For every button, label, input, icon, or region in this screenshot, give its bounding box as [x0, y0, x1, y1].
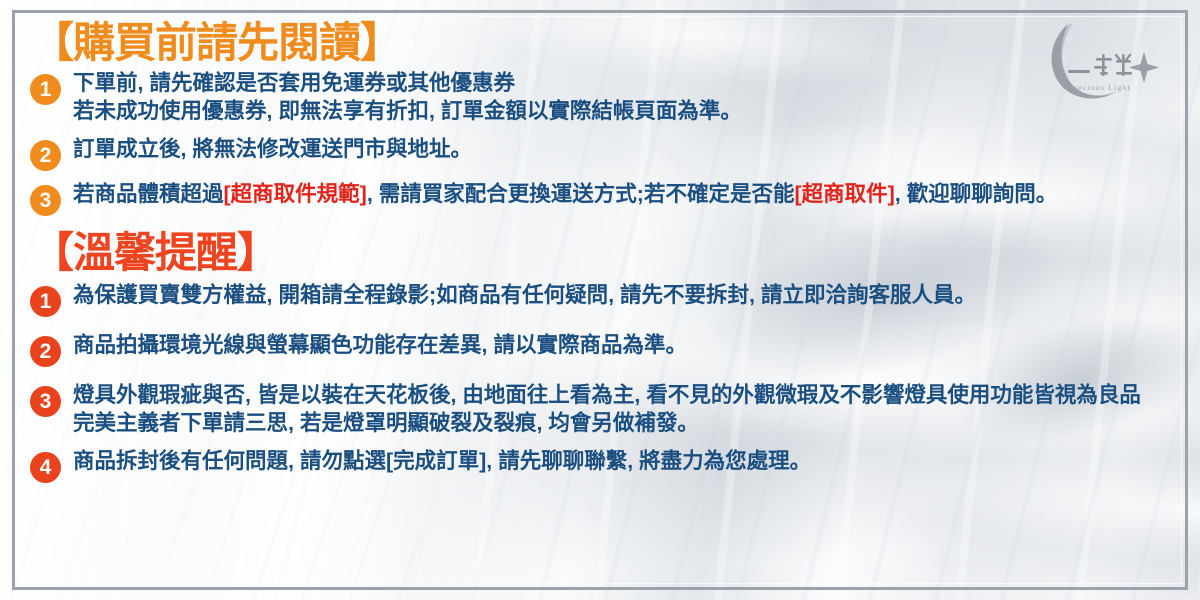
item-text-part: , 歡迎聊聊詢問。	[895, 182, 1057, 206]
item-number-badge: 1	[30, 286, 61, 317]
highlight-text: [超商取件規範]	[224, 182, 367, 206]
poster-root: Precious Light 【購買前請先閱讀】 1 下單前, 請先確認是否套用…	[0, 0, 1200, 600]
list-item: 4 商品拆封後有任何問題, 請勿點選[完成訂單], 請先聊聊聯繫, 將盡力為您處…	[26, 448, 1170, 483]
list-item: 1 下單前, 請先確認是否套用免運券或其他優惠券 若未成功使用優惠券, 即無法享…	[26, 70, 1170, 126]
item-line: 商品拆封後有任何問題, 請勿點選[完成訂單], 請先聊聊聯繫, 將盡力為您處理。	[73, 448, 811, 476]
item-text: 商品拍攝環境光線與螢幕顯色功能存在差異, 請以實際商品為準。	[73, 332, 687, 360]
list-item: 2 訂單成立後, 將無法修改運送門市與地址。	[26, 136, 1170, 171]
item-number-badge: 3	[30, 386, 61, 417]
section-title-reminder: 【溫馨提醒】	[32, 232, 1170, 274]
item-text-part: , 需請買家配合更換運送方式;若不確定是否能	[367, 182, 795, 206]
item-text: 下單前, 請先確認是否套用免運券或其他優惠券 若未成功使用優惠券, 即無法享有折…	[73, 70, 742, 126]
item-line: 下單前, 請先確認是否套用免運券或其他優惠券	[73, 70, 742, 98]
section-title-purchase: 【購買前請先閱讀】	[32, 22, 1170, 64]
list-item: 3 若商品體積超過[超商取件規範], 需請買家配合更換運送方式;若不確定是否能[…	[26, 181, 1170, 216]
item-text: 若商品體積超過[超商取件規範], 需請買家配合更換運送方式;若不確定是否能[超商…	[73, 181, 1057, 209]
section-purchase-notice: 【購買前請先閱讀】 1 下單前, 請先確認是否套用免運券或其他優惠券 若未成功使…	[26, 22, 1170, 216]
item-line: 若未成功使用優惠券, 即無法享有折扣, 訂單金額以實際結帳頁面為準。	[73, 98, 742, 126]
section-warm-reminder: 【溫馨提醒】 1 為保護買賣雙方權益, 開箱請全程錄影;如商品有任何疑問, 請先…	[26, 232, 1170, 483]
item-number-badge: 2	[30, 140, 61, 171]
list-item: 3 燈具外觀瑕疵與否, 皆是以裝在天花板後, 由地面往上看為主, 看不見的外觀微…	[26, 382, 1170, 438]
item-line: 燈具外觀瑕疵與否, 皆是以裝在天花板後, 由地面往上看為主, 看不見的外觀微瑕及…	[73, 382, 1141, 410]
item-text-part: 若商品體積超過	[73, 182, 224, 206]
item-number-badge: 3	[30, 185, 61, 216]
highlight-text: [超商取件]	[794, 182, 894, 206]
item-text: 訂單成立後, 將無法修改運送門市與地址。	[73, 136, 472, 164]
item-text: 燈具外觀瑕疵與否, 皆是以裝在天花板後, 由地面往上看為主, 看不見的外觀微瑕及…	[73, 382, 1141, 438]
item-line: 完美主義者下單請三思, 若是燈罩明顯破裂及裂痕, 均會另做補發。	[73, 410, 1141, 438]
item-text: 為保護買賣雙方權益, 開箱請全程錄影;如商品有任何疑問, 請先不要拆封, 請立即…	[73, 282, 976, 310]
item-line: 若商品體積超過[超商取件規範], 需請買家配合更換運送方式;若不確定是否能[超商…	[73, 181, 1057, 209]
poster-content: 【購買前請先閱讀】 1 下單前, 請先確認是否套用免運券或其他優惠券 若未成功使…	[0, 0, 1200, 600]
item-line: 訂單成立後, 將無法修改運送門市與地址。	[73, 136, 472, 164]
list-item: 2 商品拍攝環境光線與螢幕顯色功能存在差異, 請以實際商品為準。	[26, 332, 1170, 367]
item-number-badge: 2	[30, 336, 61, 367]
list-item: 1 為保護買賣雙方權益, 開箱請全程錄影;如商品有任何疑問, 請先不要拆封, 請…	[26, 282, 1170, 317]
item-line: 為保護買賣雙方權益, 開箱請全程錄影;如商品有任何疑問, 請先不要拆封, 請立即…	[73, 282, 976, 310]
item-number-badge: 1	[30, 74, 61, 105]
item-text: 商品拆封後有任何問題, 請勿點選[完成訂單], 請先聊聊聯繫, 將盡力為您處理。	[73, 448, 811, 476]
item-line: 商品拍攝環境光線與螢幕顯色功能存在差異, 請以實際商品為準。	[73, 332, 687, 360]
item-number-badge: 4	[30, 452, 61, 483]
